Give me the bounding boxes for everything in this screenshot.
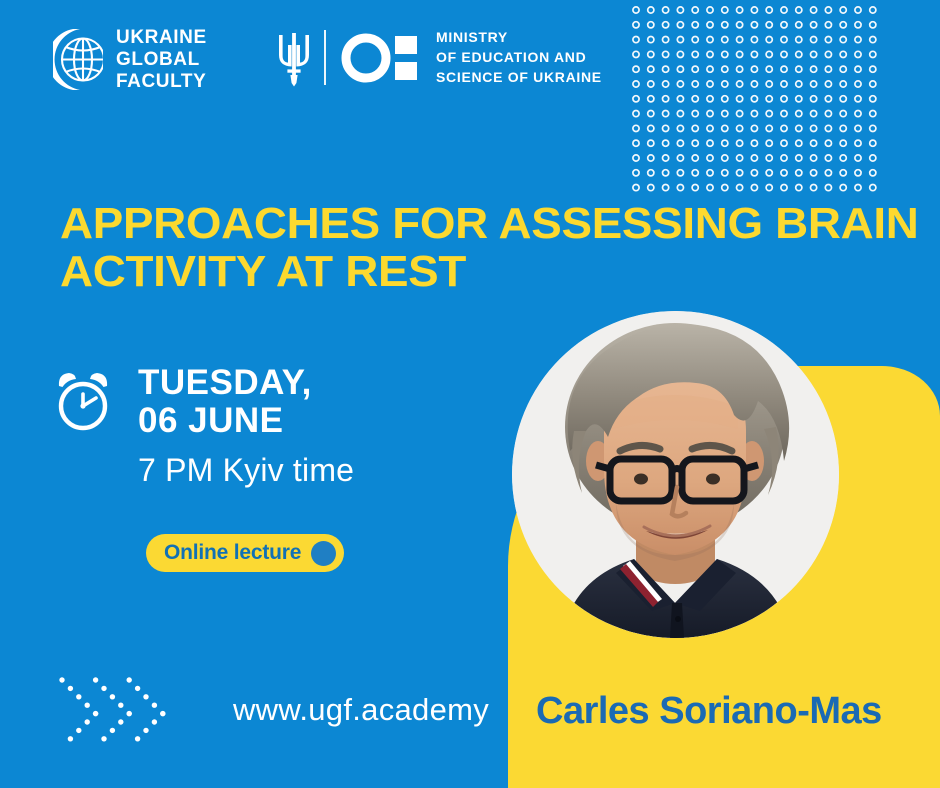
event-schedule: TUESDAY, 06 JUNE 7 PM Kyiv time <box>52 364 354 489</box>
page-title: APPROACHES FOR ASSESSING BRAIN ACTIVITY … <box>60 200 940 297</box>
toggle-knob-icon <box>311 541 336 566</box>
online-lecture-badge[interactable]: Online lecture <box>146 534 344 572</box>
ministry-line1: MINISTRY <box>436 28 602 48</box>
ukraine-trident-icon <box>277 29 311 87</box>
ugf-wordmark-line2: GLOBAL <box>116 49 207 71</box>
online-lecture-label: Online lecture <box>164 541 301 565</box>
logo-divider <box>324 30 326 85</box>
ugf-wordmark: UKRAINE GLOBAL FACULTY <box>116 27 207 93</box>
speaker-name: Carles Soriano-Mas <box>536 690 882 733</box>
ministry-of-education-logo: MINISTRY OF EDUCATION AND SCIENCE OF UKR… <box>277 28 602 88</box>
website-url[interactable]: www.ugf.academy <box>233 692 489 728</box>
ugf-wordmark-line3: FACULTY <box>116 71 207 93</box>
event-date: 06 JUNE <box>138 402 354 440</box>
event-day: TUESDAY, <box>138 364 354 402</box>
footer: www.ugf.academy <box>58 676 489 744</box>
alarm-clock-icon <box>52 370 114 432</box>
page-title-line1: APPROACHES FOR ASSESSING BRAIN <box>60 199 919 248</box>
oe-ministry-mark-icon <box>339 31 423 85</box>
ministry-line2: OF EDUCATION AND <box>436 48 602 68</box>
speaker-portrait <box>512 311 839 638</box>
ministry-line3: SCIENCE OF UKRAINE <box>436 68 602 88</box>
lecture-announcement-poster: Carles Soriano-Mas UKRAINE GLOBAL FACULT… <box>0 0 940 788</box>
ukraine-global-faculty-logo: UKRAINE GLOBAL FACULTY <box>53 27 207 93</box>
globe-icon <box>53 28 103 91</box>
event-time: 7 PM Kyiv time <box>138 452 354 489</box>
schedule-text: TUESDAY, 06 JUNE 7 PM Kyiv time <box>138 364 354 489</box>
ugf-dotted-chevron-icon <box>58 676 185 744</box>
ministry-wordmark: MINISTRY OF EDUCATION AND SCIENCE OF UKR… <box>436 28 602 88</box>
page-title-line2: ACTIVITY AT REST <box>60 247 466 296</box>
ugf-wordmark-line1: UKRAINE <box>116 27 207 49</box>
dot-grid-pattern <box>628 2 880 198</box>
